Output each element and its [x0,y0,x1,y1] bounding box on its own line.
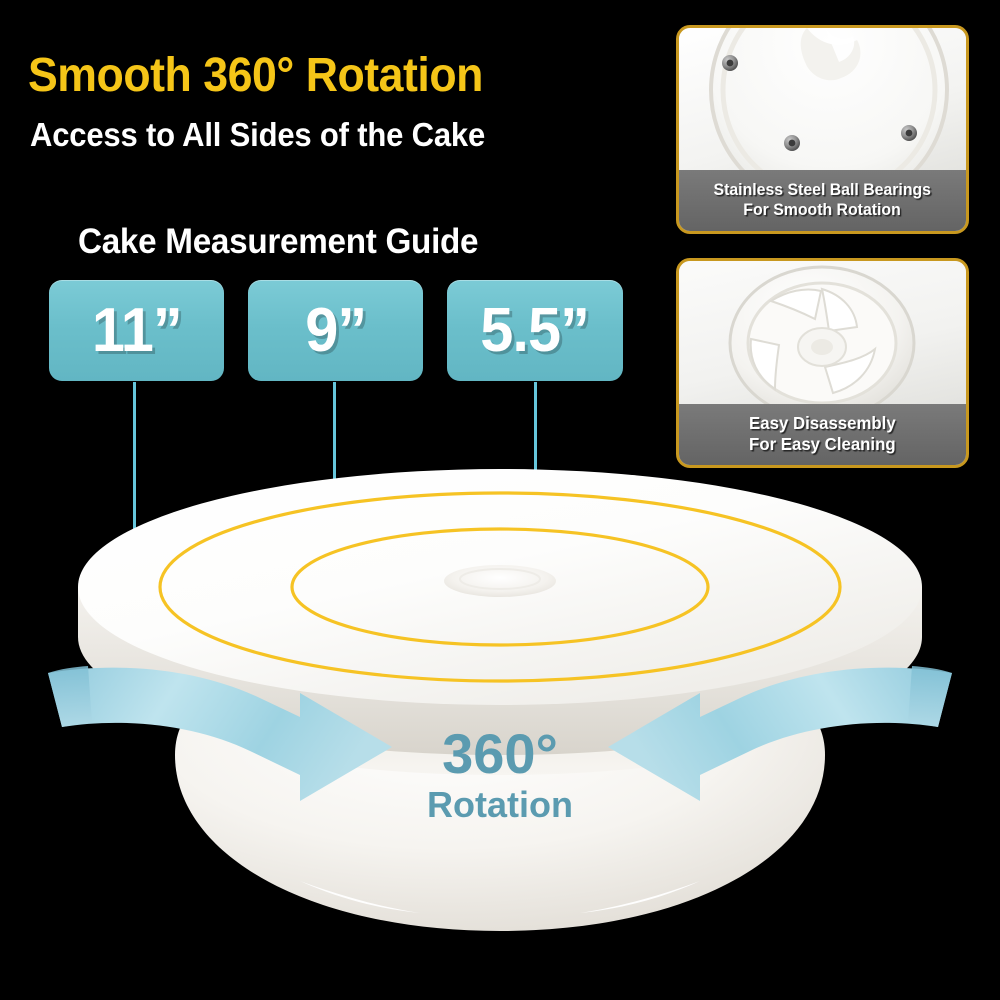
rotation-text-label: Rotation [427,784,573,825]
measurement-badge-label: 5.5” [481,300,590,362]
feature-panel-easy-disassembly: Easy Disassembly For Easy Cleaning [676,258,969,468]
measurement-guide-title: Cake Measurement Guide [78,222,591,262]
panel-caption-line1: Stainless Steel Ball Bearings [714,181,931,200]
page-title: Smooth 360° Rotation [28,52,605,100]
page-subtitle: Access to All Sides of the Cake [30,118,613,151]
measurement-badge-label: 9” [305,300,366,362]
panel-caption: Easy Disassembly For Easy Cleaning [679,404,966,465]
rotation-degrees-label: 360° [442,722,558,785]
rotation-ribbon-left-tab [48,666,92,727]
rotation-ribbon-right-tab [908,666,952,727]
panel-caption: Stainless Steel Ball Bearings For Smooth… [679,170,966,231]
panel-caption-line2: For Easy Cleaning [749,435,896,455]
feature-panel-ball-bearings: Stainless Steel Ball Bearings For Smooth… [676,25,969,234]
panel-caption-line2: For Smooth Rotation [744,201,902,220]
measurement-badge-5-5in: 5.5” [447,280,623,381]
measurement-badge-11in: 11” [49,280,224,381]
product-marketing-image: Smooth 360° Rotation Access to All Sides… [0,0,1000,1000]
measurement-badge-label: 11” [92,300,182,362]
measurement-badge-9in: 9” [248,280,423,381]
cake-turntable-product-image: 360° Rotation [0,455,1000,1000]
panel-caption-line1: Easy Disassembly [749,414,896,434]
